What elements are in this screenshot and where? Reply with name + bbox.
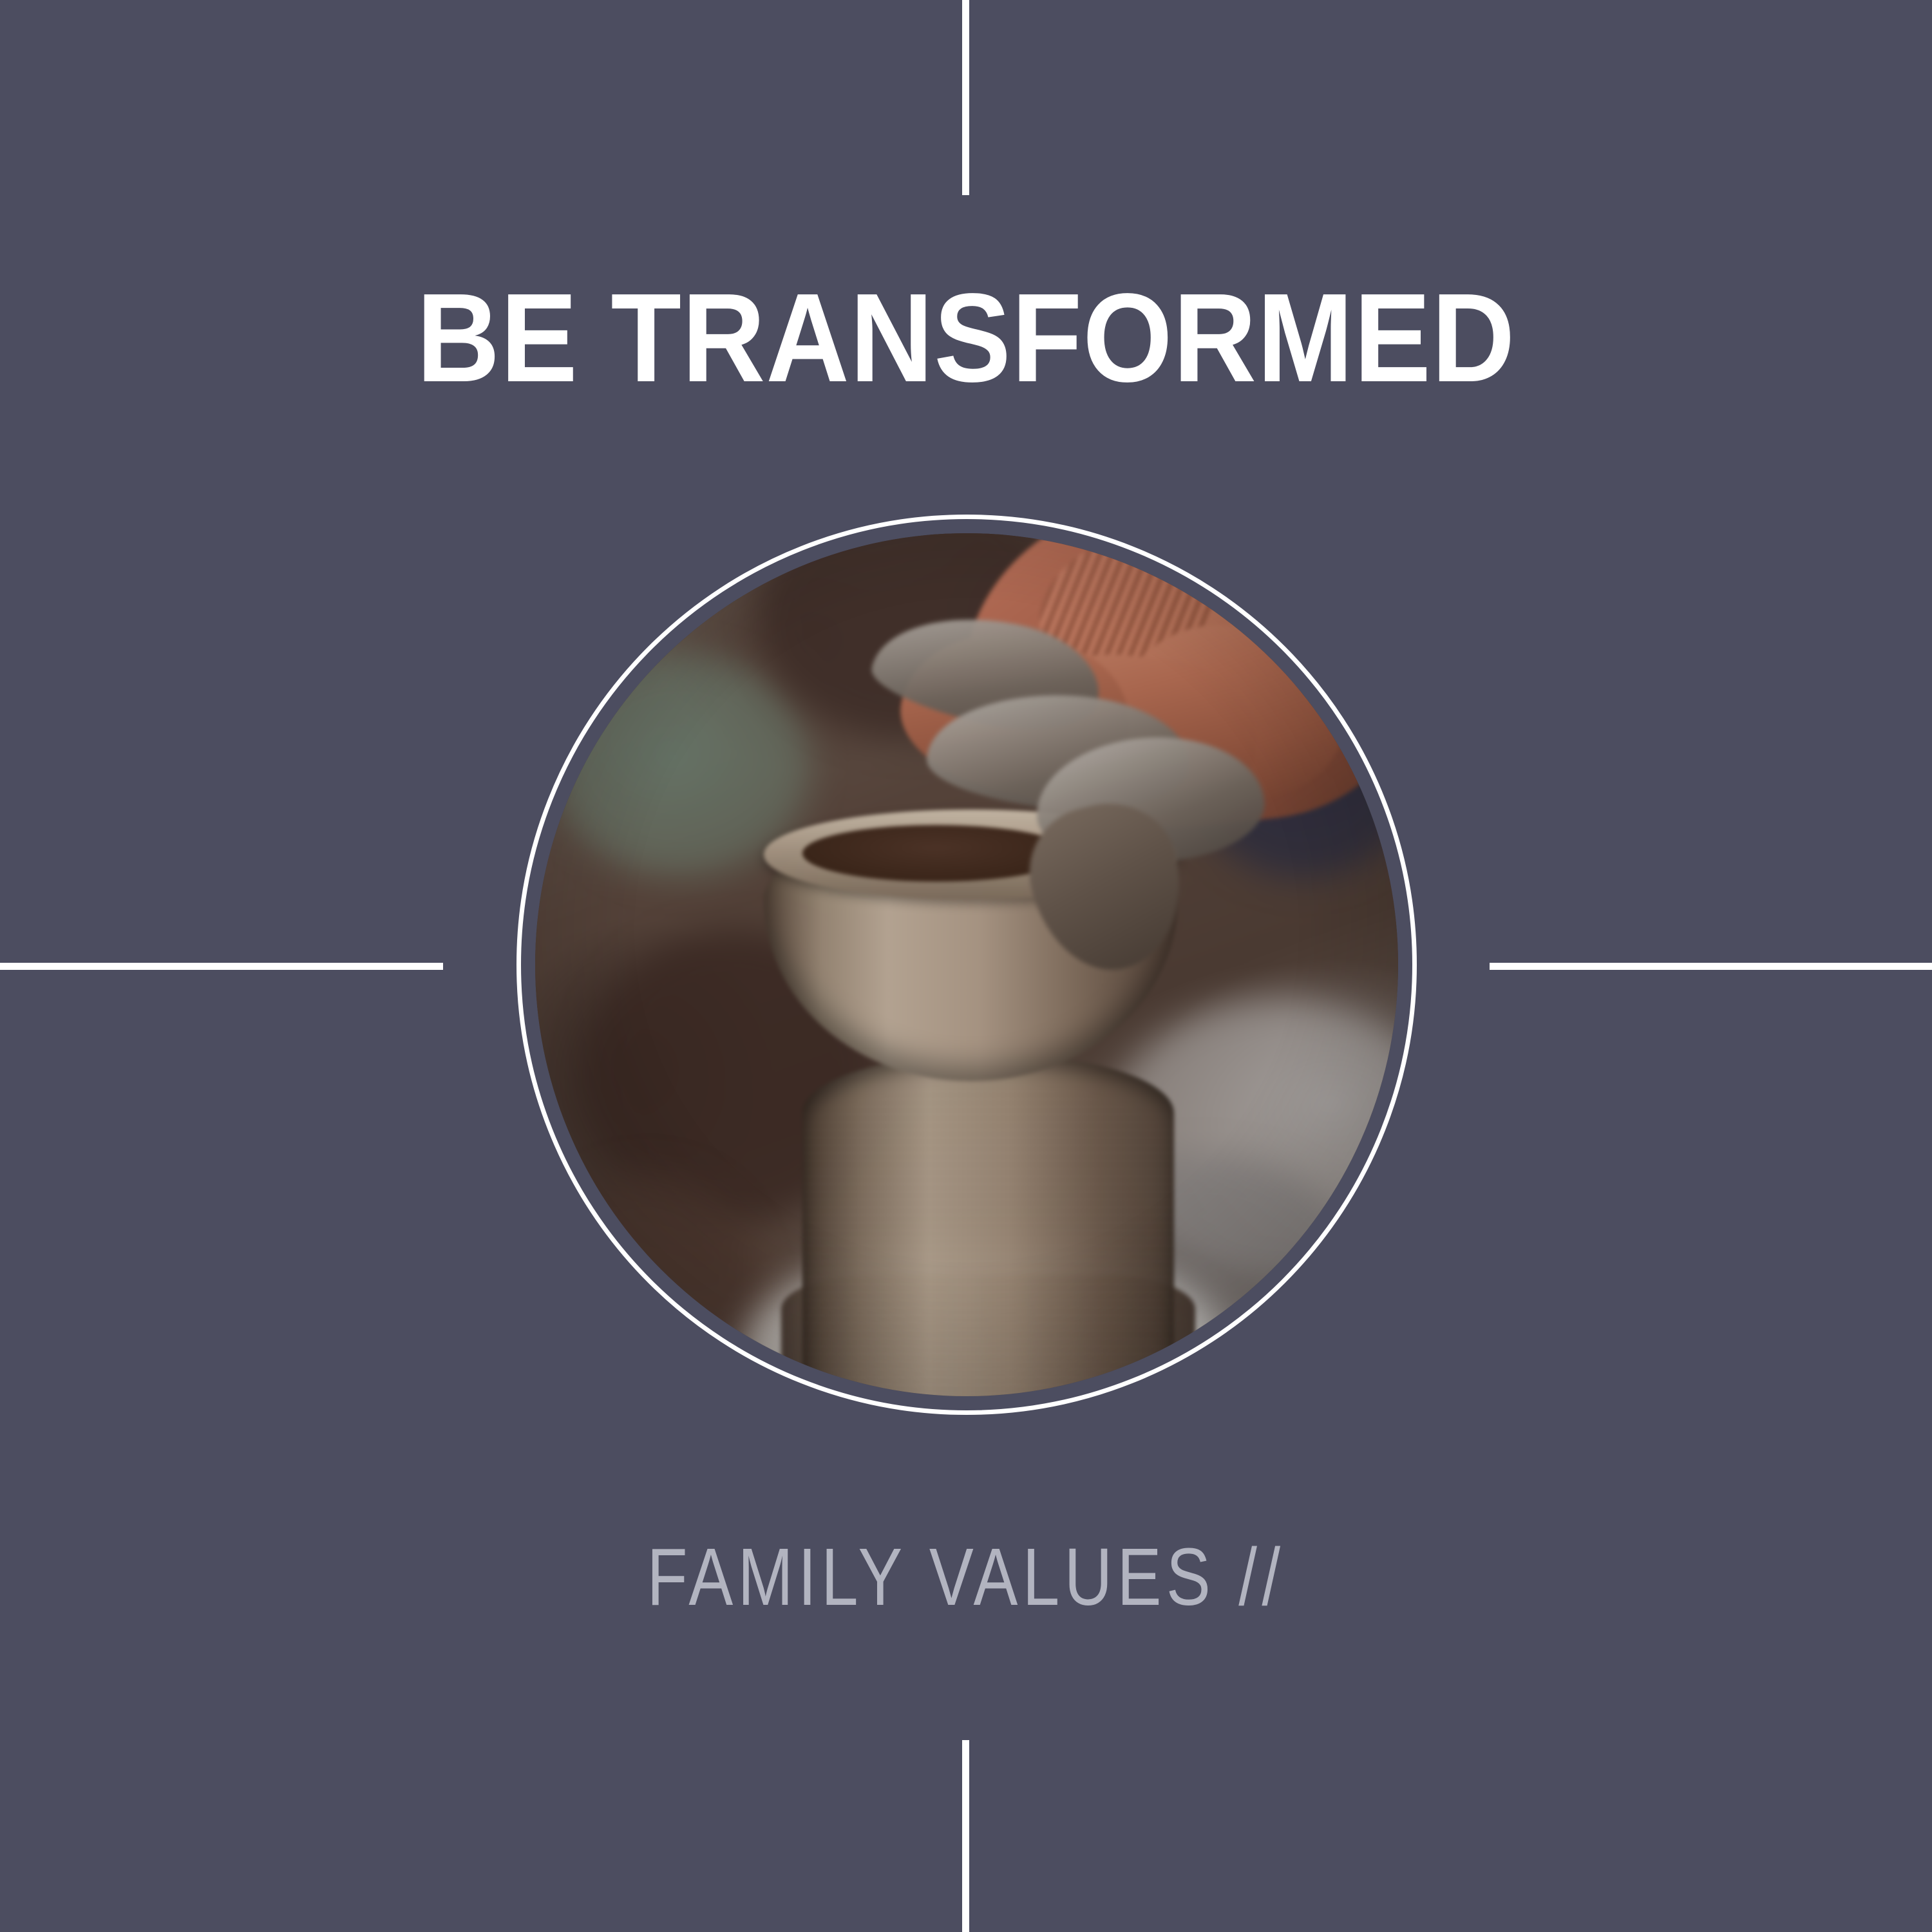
footer-eyebrow-label: FAMILY VALUES // bbox=[174, 1537, 1758, 1618]
pottery-photo-image bbox=[535, 533, 1398, 1396]
poster-canvas: BE TRANSFORMED bbox=[0, 0, 1932, 1932]
circular-photo-frame bbox=[516, 515, 1417, 1415]
left-horizontal-rule bbox=[0, 963, 443, 970]
bottom-vertical-rule bbox=[962, 1740, 969, 1932]
pottery-photo bbox=[535, 533, 1398, 1396]
top-vertical-rule bbox=[962, 0, 969, 195]
potter-hand bbox=[846, 533, 1398, 1045]
right-horizontal-rule bbox=[1490, 963, 1932, 970]
page-title: BE TRANSFORMED bbox=[82, 275, 1850, 401]
clay-vessel-stem bbox=[802, 1056, 1173, 1396]
